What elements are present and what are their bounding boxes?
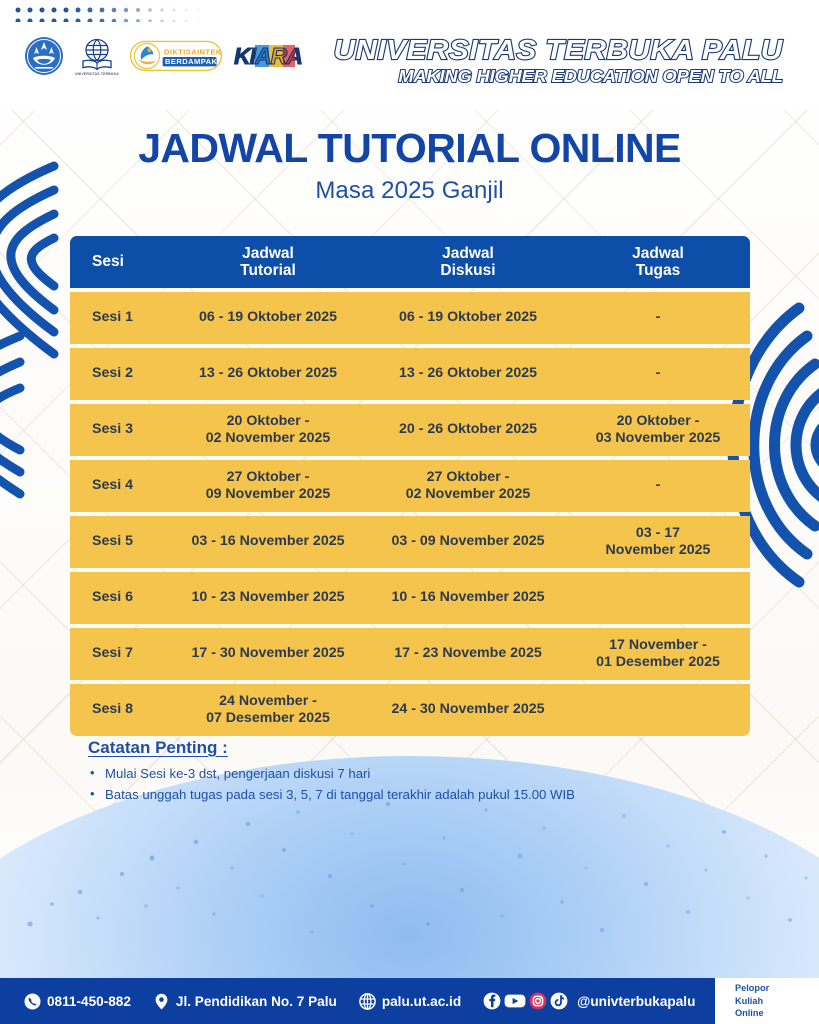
university-name: UNIVERSITAS TERBUKA PALU	[334, 36, 783, 64]
cell-jadwal-tutorial: 13 - 26 Oktober 2025	[166, 358, 370, 389]
table-row: Sesi 4 27 Oktober - 09 November 2025 27 …	[70, 460, 750, 512]
cell-jadwal-tutorial: 06 - 19 Oktober 2025	[166, 302, 370, 333]
cell-jadwal-tugas: 20 Oktober - 03 November 2025	[566, 406, 750, 455]
column-header-tutorial-line1: Jadwal	[242, 245, 294, 262]
cell-sesi: Sesi 7	[70, 638, 166, 669]
cell-line1: 20 - 26 Oktober 2025	[399, 421, 537, 437]
table-row: Sesi 5 03 - 16 November 2025 03 - 09 Nov…	[70, 516, 750, 568]
cell-line1: 24 - 30 November 2025	[391, 701, 544, 717]
cell-sesi: Sesi 3	[70, 414, 166, 445]
cell-line2: 03 November 2025	[596, 430, 721, 446]
facebook-icon[interactable]	[483, 992, 501, 1010]
cell-line2: 01 Desember 2025	[596, 654, 720, 670]
cell-jadwal-tutorial: 10 - 23 November 2025	[166, 582, 370, 613]
cell-line1: 03 - 09 November 2025	[391, 533, 544, 549]
cell-jadwal-tugas	[566, 694, 750, 725]
footer-tagline-badge: Pelopor Kuliah Online	[715, 978, 819, 1024]
footer-address[interactable]: Jl. Pendidikan No. 7 Palu	[153, 993, 337, 1010]
schedule-table: Sesi Jadwal Tutorial Jadwal Diskusi Jadw…	[70, 236, 750, 736]
footer-phone-text: 0811-450-882	[47, 994, 131, 1009]
globe-icon	[359, 993, 376, 1010]
cell-jadwal-diskusi: 06 - 19 Oktober 2025	[370, 302, 566, 333]
concentric-arc-left-lower-icon	[0, 330, 30, 500]
cell-jadwal-tutorial: 27 Oktober - 09 November 2025	[166, 462, 370, 511]
cell-jadwal-tugas: -	[566, 358, 750, 389]
cell-line1: 20 Oktober -	[617, 413, 700, 429]
cell-jadwal-tugas: 17 November - 01 Desember 2025	[566, 630, 750, 679]
cell-line2: 09 November 2025	[206, 486, 331, 502]
cell-jadwal-tutorial: 03 - 16 November 2025	[166, 526, 370, 557]
kemendikbud-tut-wuri-handayani-logo	[24, 36, 64, 76]
table-row: Sesi 2 13 - 26 Oktober 2025 13 - 26 Okto…	[70, 348, 750, 400]
cell-sesi: Sesi 8	[70, 694, 166, 725]
cell-sesi: Sesi 5	[70, 526, 166, 557]
svg-text:DIKTISAINTEK: DIKTISAINTEK	[164, 48, 222, 57]
cell-line1: 13 - 26 Oktober 2025	[199, 365, 337, 381]
footer-contact-group: 0811-450-882 Jl. Pendidikan No. 7 Palu p…	[0, 992, 715, 1010]
footer-social-handle: @univterbukapalu	[577, 994, 695, 1009]
universitas-terbuka-logo	[80, 37, 114, 71]
cell-line1: 17 November -	[609, 637, 707, 653]
footer-website-text: palu.ut.ac.id	[382, 994, 461, 1009]
diktisaintek-berdampak-logo: DIKTISAINTEK BERDAMPAK	[130, 39, 222, 73]
cell-line1: 10 - 16 November 2025	[391, 589, 544, 605]
university-tagline: MAKING HIGHER EDUCATION OPEN TO ALL	[342, 68, 783, 86]
cell-line1: 03 - 17	[636, 525, 680, 541]
footer-phone[interactable]: 0811-450-882	[24, 993, 131, 1010]
table-row: Sesi 8 24 November - 07 Desember 2025 24…	[70, 684, 750, 736]
page-subtitle: Masa 2025 Ganjil	[0, 177, 819, 205]
university-title-block: UNIVERSITAS TERBUKA PALU MAKING HIGHER E…	[359, 36, 783, 86]
note-item: Mulai Sesi ke-3 dst, pengerjaan diskusi …	[88, 763, 728, 784]
badge-line-1: Pelopor	[735, 982, 819, 995]
cell-jadwal-tutorial: 24 November - 07 Desember 2025	[166, 686, 370, 735]
cell-jadwal-tugas: 03 - 17 November 2025	[566, 518, 750, 567]
cell-line1: 20 Oktober -	[227, 413, 310, 429]
cell-line1: 27 Oktober -	[227, 469, 310, 485]
cell-line1: 06 - 19 Oktober 2025	[199, 309, 337, 325]
cell-line1: 17 - 30 November 2025	[191, 645, 344, 661]
notes-section: Catatan Penting : Mulai Sesi ke-3 dst, p…	[88, 738, 728, 806]
column-header-jadwal-tutorial: Jadwal Tutorial	[166, 237, 370, 288]
cell-line1: 27 Oktober -	[427, 469, 510, 485]
cell-sesi: Sesi 6	[70, 582, 166, 613]
cell-sesi: Sesi 1	[70, 302, 166, 333]
table-row: Sesi 3 20 Oktober - 02 November 2025 20 …	[70, 404, 750, 456]
cell-jadwal-diskusi: 24 - 30 November 2025	[370, 694, 566, 725]
cell-line2: 07 Desember 2025	[206, 710, 330, 726]
cell-jadwal-diskusi: 03 - 09 November 2025	[370, 526, 566, 557]
table-row: Sesi 7 17 - 30 November 2025 17 - 23 Nov…	[70, 628, 750, 680]
cell-jadwal-tugas: -	[566, 302, 750, 333]
cell-jadwal-tugas	[566, 582, 750, 613]
column-header-jadwal-diskusi: Jadwal Diskusi	[370, 237, 566, 288]
column-header-jadwal-tugas: Jadwal Tugas	[566, 237, 750, 288]
badge-line-2: Kuliah	[735, 995, 819, 1008]
phone-icon	[24, 993, 41, 1010]
badge-line-3: Online	[735, 1007, 819, 1020]
youtube-icon[interactable]	[504, 992, 526, 1010]
cell-jadwal-tugas: -	[566, 470, 750, 501]
cell-line2: 02 November 2025	[206, 430, 331, 446]
cell-line2: November 2025	[606, 542, 711, 558]
notes-list: Mulai Sesi ke-3 dst, pengerjaan diskusi …	[88, 763, 728, 806]
cell-line1: 17 - 23 Novembe 2025	[394, 645, 541, 661]
footer-bar: 0811-450-882 Jl. Pendidikan No. 7 Palu p…	[0, 978, 819, 1024]
kiara-logo: KIARA KIARA	[233, 41, 305, 71]
table-row: Sesi 1 06 - 19 Oktober 2025 06 - 19 Okto…	[70, 292, 750, 344]
footer-website[interactable]: palu.ut.ac.id	[359, 993, 461, 1010]
cell-jadwal-diskusi: 10 - 16 November 2025	[370, 582, 566, 613]
column-header-tutorial-line2: Tutorial	[240, 262, 296, 279]
column-header-diskusi-line2: Diskusi	[440, 262, 495, 279]
location-pin-icon	[153, 993, 170, 1010]
logo-group: UNIVERSITAS TERBUKA DIKTISAINTEK BERDAMP…	[8, 22, 328, 90]
column-header-sesi-line1: Sesi	[92, 253, 124, 270]
footer-address-text: Jl. Pendidikan No. 7 Palu	[176, 994, 337, 1009]
table-header-row: Sesi Jadwal Tutorial Jadwal Diskusi Jadw…	[70, 236, 750, 288]
cell-jadwal-diskusi: 17 - 23 Novembe 2025	[370, 638, 566, 669]
cell-sesi: Sesi 4	[70, 470, 166, 501]
cell-jadwal-tutorial: 17 - 30 November 2025	[166, 638, 370, 669]
cell-jadwal-tutorial: 20 Oktober - 02 November 2025	[166, 406, 370, 455]
poster-canvas: UNIVERSITAS TERBUKA DIKTISAINTEK BERDAMP…	[0, 0, 819, 1024]
svg-text:BERDAMPAK: BERDAMPAK	[165, 57, 218, 66]
cell-line1: 03 - 16 November 2025	[191, 533, 344, 549]
footer-social[interactable]: @univterbukapalu	[483, 992, 695, 1010]
column-header-tugas-line1: Jadwal	[632, 245, 684, 262]
notes-title: Catatan Penting :	[88, 738, 728, 758]
note-item: Batas unggah tugas pada sesi 3, 5, 7 di …	[88, 784, 728, 805]
social-icon-group	[483, 992, 568, 1010]
cell-sesi: Sesi 2	[70, 358, 166, 389]
instagram-icon[interactable]	[529, 992, 547, 1010]
cell-line1: -	[656, 309, 661, 325]
cell-line1: -	[656, 477, 661, 493]
cell-line1: 13 - 26 Oktober 2025	[399, 365, 537, 381]
universitas-terbuka-logo-caption: UNIVERSITAS TERBUKA	[75, 72, 119, 76]
cell-line1: 10 - 23 November 2025	[191, 589, 344, 605]
column-header-sesi: Sesi	[70, 245, 166, 278]
cell-jadwal-diskusi: 13 - 26 Oktober 2025	[370, 358, 566, 389]
tiktok-icon[interactable]	[550, 992, 568, 1010]
cell-jadwal-diskusi: 20 - 26 Oktober 2025	[370, 414, 566, 445]
cell-jadwal-diskusi: 27 Oktober - 02 November 2025	[370, 462, 566, 511]
cell-line1: 24 November -	[219, 693, 317, 709]
cell-line1: 06 - 19 Oktober 2025	[399, 309, 537, 325]
page-title: JADWAL TUTORIAL ONLINE	[0, 128, 819, 170]
title-section: JADWAL TUTORIAL ONLINE Masa 2025 Ganjil	[0, 128, 819, 205]
cell-line2: 02 November 2025	[406, 486, 531, 502]
universitas-terbuka-logo-wrap: UNIVERSITAS TERBUKA	[75, 37, 119, 76]
column-header-tugas-line2: Tugas	[636, 262, 681, 279]
column-header-diskusi-line1: Jadwal	[442, 245, 494, 262]
cell-line1: -	[656, 365, 661, 381]
svg-text:KIARA: KIARA	[234, 43, 302, 69]
table-row: Sesi 6 10 - 23 November 2025 10 - 16 Nov…	[70, 572, 750, 624]
